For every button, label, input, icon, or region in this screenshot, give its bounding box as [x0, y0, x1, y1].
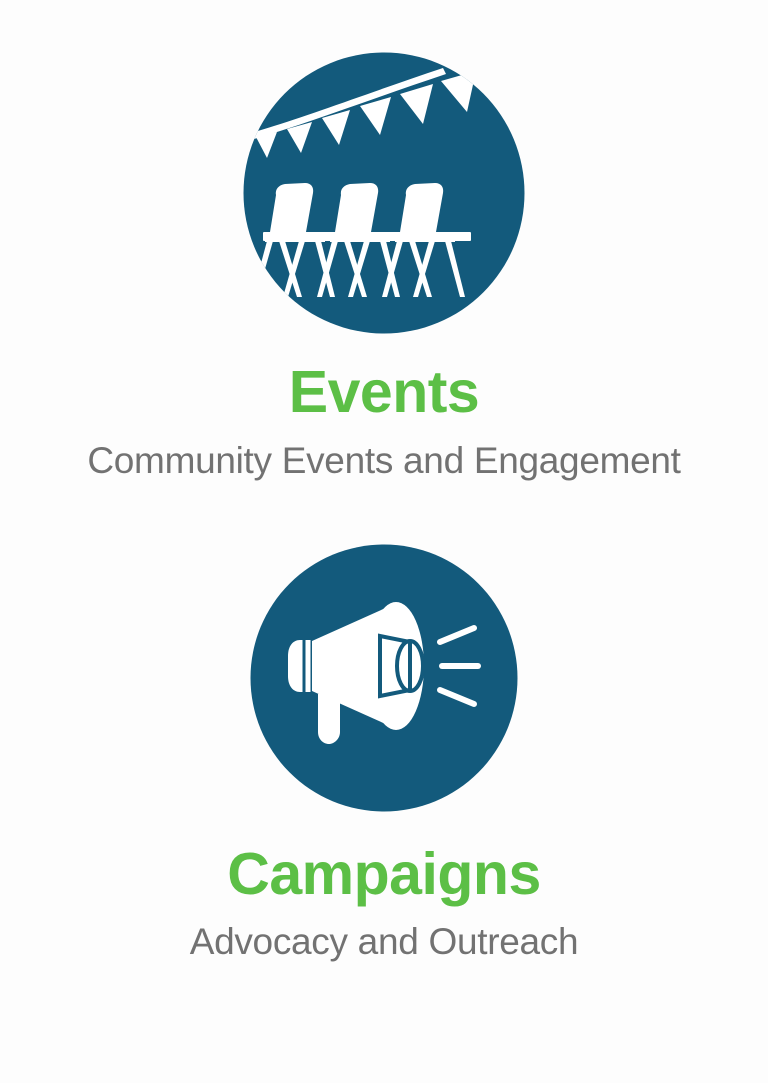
campaigns-icon-container[interactable]	[0, 544, 768, 812]
feature-card-events[interactable]: Events Community Events and Engagement	[0, 52, 768, 482]
bunting-chairs-icon	[243, 52, 525, 334]
events-subtitle: Community Events and Engagement	[0, 441, 768, 482]
megaphone-icon	[250, 544, 518, 812]
events-title: Events	[0, 362, 768, 424]
chair-3-seat	[393, 232, 471, 241]
campaigns-title: Campaigns	[0, 844, 768, 906]
feature-list-page: Events Community Events and Engagement	[0, 0, 768, 1083]
events-icon-container[interactable]	[0, 52, 768, 334]
feature-card-campaigns[interactable]: Campaigns Advocacy and Outreach	[0, 544, 768, 963]
campaigns-subtitle: Advocacy and Outreach	[0, 922, 768, 963]
megaphone-rear-cap	[288, 640, 312, 692]
